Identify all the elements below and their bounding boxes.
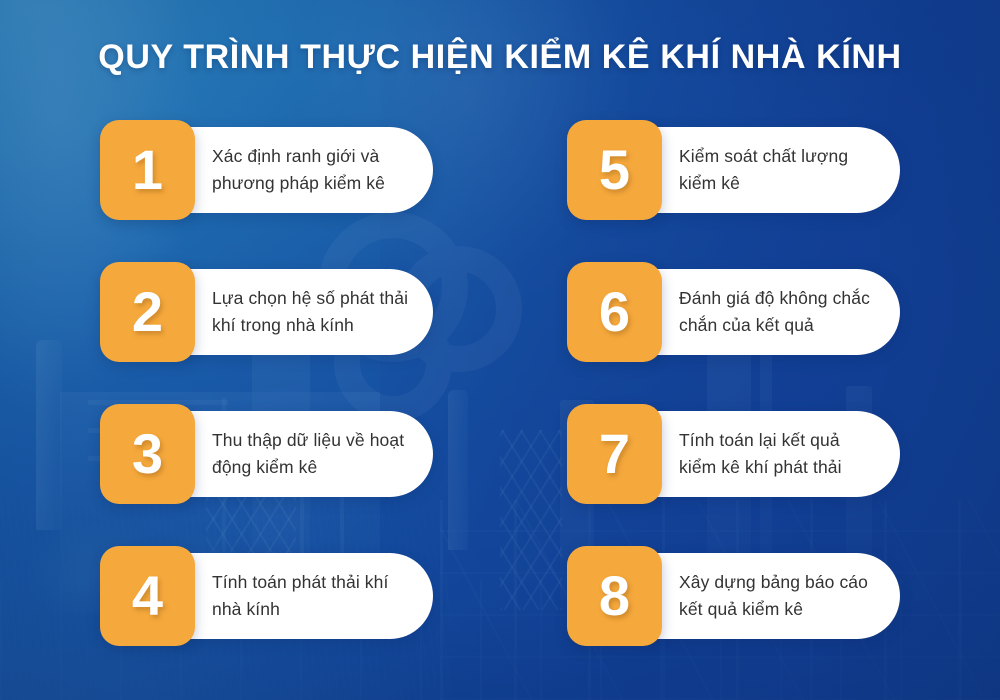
- step-number-badge-5: 5: [567, 120, 662, 220]
- step-item-3: 3 Thu thập dữ liệu về hoạt động kiểm kê: [100, 404, 433, 504]
- step-number-badge-8: 8: [567, 546, 662, 646]
- step-text-7: Tính toán lại kết quả kiểm kê khí phát t…: [679, 427, 878, 481]
- step-card-4: Tính toán phát thải khí nhà kính: [177, 553, 433, 639]
- step-number-badge-1: 1: [100, 120, 195, 220]
- page-title: QUY TRÌNH THỰC HIỆN KIỂM KÊ KHÍ NHÀ KÍNH: [0, 38, 1000, 77]
- step-number-badge-6: 6: [567, 262, 662, 362]
- step-text-2: Lựa chọn hệ số phát thải khí trong nhà k…: [212, 285, 411, 339]
- poster-content: QUY TRÌNH THỰC HIỆN KIỂM KÊ KHÍ NHÀ KÍNH…: [0, 0, 1000, 700]
- step-card-6: Đánh giá độ không chắc chắn của kết quả: [644, 269, 900, 355]
- step-item-2: 2 Lựa chọn hệ số phát thải khí trong nhà…: [100, 262, 433, 362]
- infographic-poster: QUY TRÌNH THỰC HIỆN KIỂM KÊ KHÍ NHÀ KÍNH…: [0, 0, 1000, 700]
- step-number-badge-7: 7: [567, 404, 662, 504]
- step-card-3: Thu thập dữ liệu về hoạt động kiểm kê: [177, 411, 433, 497]
- step-item-7: 7 Tính toán lại kết quả kiểm kê khí phát…: [567, 404, 900, 504]
- step-text-5: Kiểm soát chất lượng kiểm kê: [679, 143, 878, 197]
- step-card-2: Lựa chọn hệ số phát thải khí trong nhà k…: [177, 269, 433, 355]
- step-item-4: 4 Tính toán phát thải khí nhà kính: [100, 546, 433, 646]
- steps-container: 1 Xác định ranh giới và phương pháp kiểm…: [0, 120, 1000, 646]
- step-card-7: Tính toán lại kết quả kiểm kê khí phát t…: [644, 411, 900, 497]
- step-number-badge-3: 3: [100, 404, 195, 504]
- step-number-badge-4: 4: [100, 546, 195, 646]
- step-card-8: Xây dựng bảng báo cáo kết quả kiểm kê: [644, 553, 900, 639]
- steps-column-right: 5 Kiểm soát chất lượng kiểm kê 6 Đánh gi…: [567, 120, 900, 646]
- step-item-5: 5 Kiểm soát chất lượng kiểm kê: [567, 120, 900, 220]
- step-card-1: Xác định ranh giới và phương pháp kiểm k…: [177, 127, 433, 213]
- step-text-3: Thu thập dữ liệu về hoạt động kiểm kê: [212, 427, 411, 481]
- steps-column-left: 1 Xác định ranh giới và phương pháp kiểm…: [100, 120, 433, 646]
- step-item-1: 1 Xác định ranh giới và phương pháp kiểm…: [100, 120, 433, 220]
- step-number-badge-2: 2: [100, 262, 195, 362]
- step-text-8: Xây dựng bảng báo cáo kết quả kiểm kê: [679, 569, 878, 623]
- step-text-1: Xác định ranh giới và phương pháp kiểm k…: [212, 143, 411, 197]
- step-text-6: Đánh giá độ không chắc chắn của kết quả: [679, 285, 878, 339]
- step-card-5: Kiểm soát chất lượng kiểm kê: [644, 127, 900, 213]
- step-text-4: Tính toán phát thải khí nhà kính: [212, 569, 411, 623]
- step-item-8: 8 Xây dựng bảng báo cáo kết quả kiểm kê: [567, 546, 900, 646]
- step-item-6: 6 Đánh giá độ không chắc chắn của kết qu…: [567, 262, 900, 362]
